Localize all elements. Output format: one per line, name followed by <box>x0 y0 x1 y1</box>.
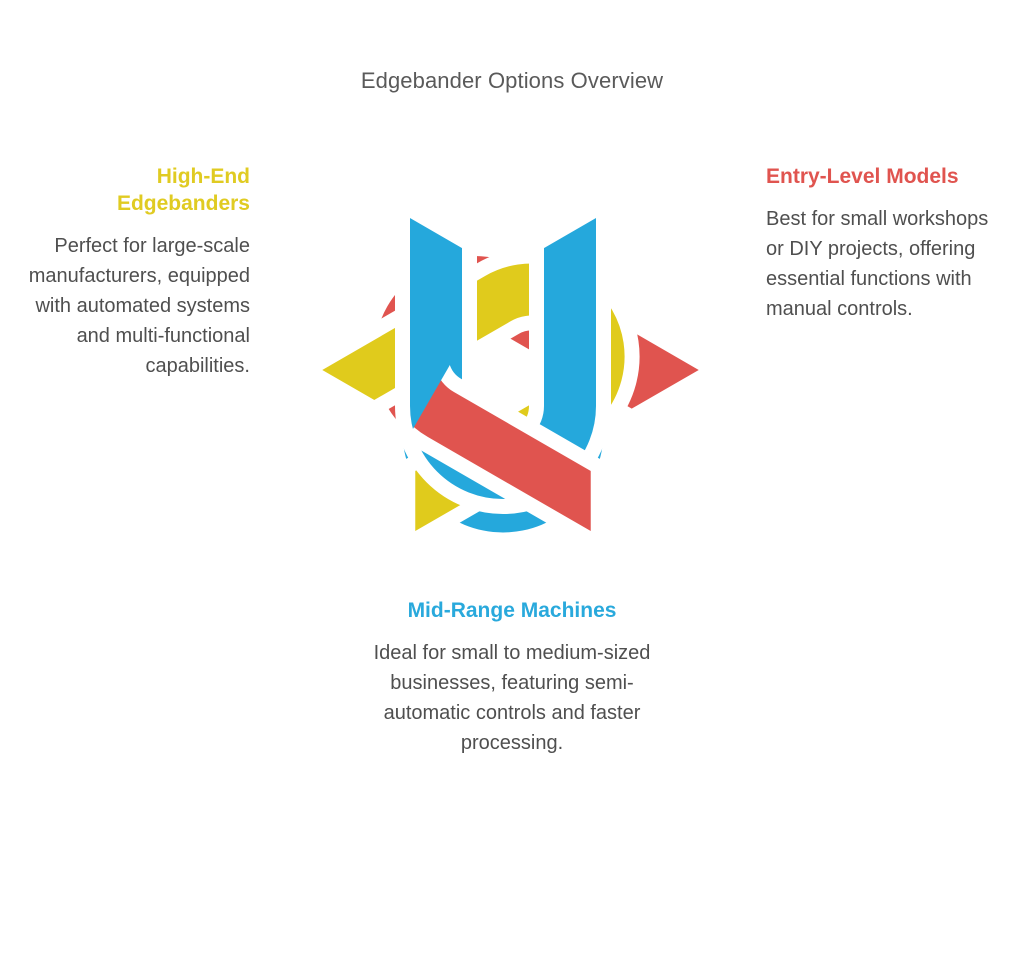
page-title: Edgebander Options Overview <box>0 66 1024 96</box>
block-high-end-heading: High-End Edgebanders <box>22 163 250 217</box>
emblem-weave-overlap <box>337 219 699 544</box>
block-mid-range: Mid-Range Machines Ideal for small to me… <box>368 597 656 758</box>
block-entry-level-heading: Entry-Level Models <box>766 163 1002 190</box>
emblem-graphic <box>283 160 723 562</box>
block-mid-range-heading: Mid-Range Machines <box>368 597 656 624</box>
block-mid-range-body: Ideal for small to medium-sized business… <box>368 638 656 758</box>
block-entry-level: Entry-Level Models Best for small worksh… <box>766 163 1002 324</box>
block-high-end-body: Perfect for large-scale manufacturers, e… <box>22 231 250 381</box>
block-high-end: High-End Edgebanders Perfect for large-s… <box>22 163 250 381</box>
block-entry-level-body: Best for small workshops or DIY projects… <box>766 204 1002 324</box>
infographic-canvas: Edgebander Options Overview <box>0 0 1024 975</box>
